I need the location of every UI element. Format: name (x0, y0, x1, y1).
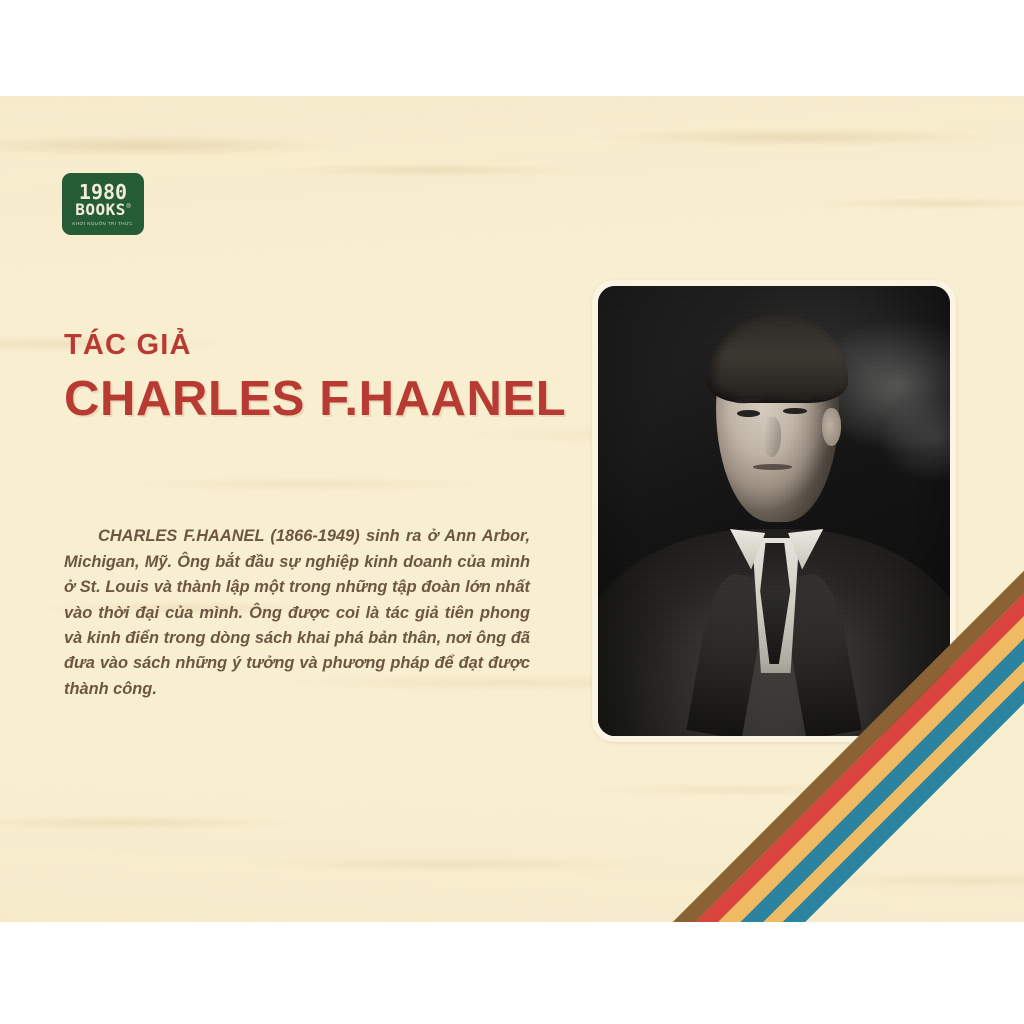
brand-logo[interactable]: 1980 BOOKS ® KHƠI NGUỒN TRI THỨC (62, 173, 144, 235)
page-title: CHARLES F.HAANEL (64, 371, 566, 427)
section-eyebrow-label: TÁC GIẢ (64, 329, 192, 361)
author-biography-text: CHARLES F.HAANEL (1866-1949) sinh ra ở A… (64, 524, 530, 702)
portrait-eye-right (783, 408, 807, 415)
logo-tagline-text: KHƠI NGUỒN TRI THỨC (73, 220, 134, 227)
poster-page: 1980 BOOKS ® KHƠI NGUỒN TRI THỨC TÁC GIẢ… (0, 0, 1024, 1024)
page-margin-top (0, 0, 1024, 96)
author-portrait-frame (592, 280, 956, 742)
registered-trademark-icon: ® (126, 203, 130, 211)
logo-wordmark-row: BOOKS ® (75, 202, 131, 218)
page-margin-bottom (0, 922, 1024, 1024)
portrait-ear (822, 408, 841, 446)
portrait-nose (762, 417, 781, 458)
author-portrait-photo (598, 286, 950, 736)
portrait-mouth (753, 464, 792, 470)
poster-canvas: 1980 BOOKS ® KHƠI NGUỒN TRI THỨC TÁC GIẢ… (0, 96, 1024, 922)
logo-wordmark-text: BOOKS (75, 202, 126, 218)
portrait-eye-left (737, 410, 760, 417)
